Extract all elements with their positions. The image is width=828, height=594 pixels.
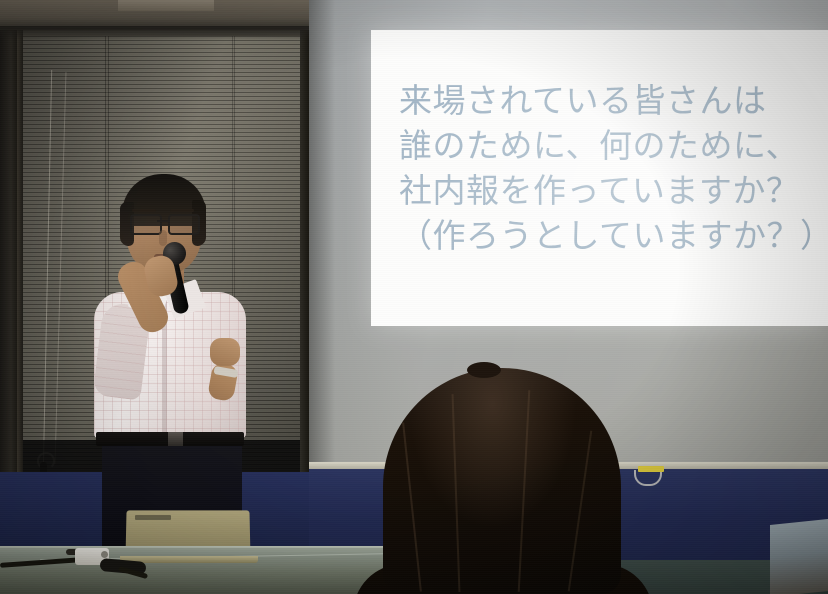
eyeglasses-bridge — [157, 220, 169, 222]
yellow-sticker — [638, 466, 664, 472]
slide-text-block: 来場されている皆さんは 誰のために、何のために、 社内報を作っていますか？ （作… — [399, 78, 819, 258]
audience-member — [383, 368, 621, 594]
eyeglasses-lens-left — [130, 214, 162, 235]
adapter-plug — [101, 551, 108, 558]
eyeglasses-lens-right — [168, 214, 200, 235]
chair — [770, 519, 828, 594]
presenter-eyebrow-left — [132, 209, 156, 212]
presenter-eyebrow-right — [170, 209, 194, 212]
laptop-logo — [135, 515, 171, 520]
audience-hair-tuft — [467, 362, 501, 378]
ceiling-light-fixture — [118, 0, 214, 11]
projected-slide: 来場されている皆さんは 誰のために、何のために、 社内報を作っていますか？ （作… — [371, 30, 828, 326]
slide-line-1: 来場されている皆さんは — [399, 78, 819, 123]
ceiling-beam-shadow — [0, 26, 330, 40]
table-surface — [0, 548, 420, 594]
slide-line-4: （作ろうとしていますか？） — [399, 213, 819, 258]
presentation-photo: 来場されている皆さんは 誰のために、何のために、 社内報を作っていますか？ （作… — [0, 0, 828, 594]
belt-buckle — [168, 432, 183, 446]
presenter-nose — [159, 230, 167, 246]
presenter — [84, 168, 284, 568]
slide-line-3: 社内報を作っていますか？ — [399, 168, 819, 213]
slide-line-2: 誰のために、何のために、 — [399, 123, 819, 168]
presenter-hand-right — [210, 338, 240, 366]
